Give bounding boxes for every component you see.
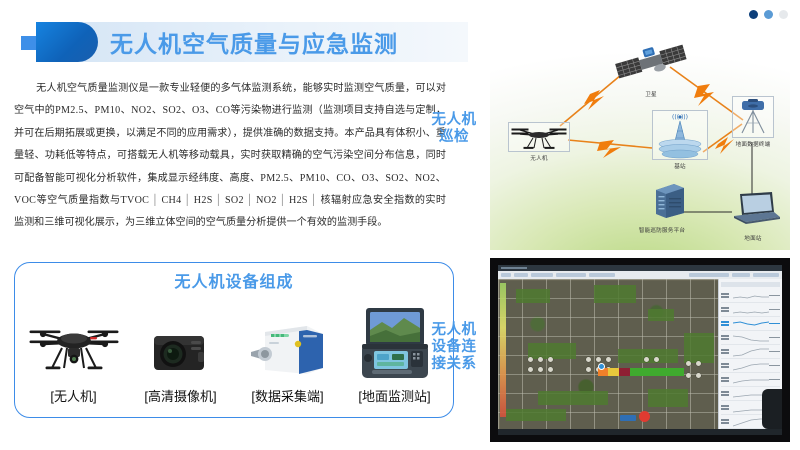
map-storage-tank xyxy=(644,357,649,362)
diagram-node-base-station: ((( ))) xyxy=(652,110,708,160)
measurement-value xyxy=(769,309,780,311)
measurement-row-active xyxy=(721,317,780,331)
monitoring-software-screenshot[interactable] xyxy=(490,258,790,442)
diagram-node-drone xyxy=(508,122,570,152)
title-pill-shape xyxy=(36,22,98,62)
satellite-map-canvas[interactable] xyxy=(498,279,718,429)
paragraph-part-3: 等空气质量指数与 xyxy=(36,195,120,206)
map-storage-tank xyxy=(686,373,691,378)
map-vegetation xyxy=(648,309,674,321)
equipment-label-data-collector: [数据采集端] xyxy=(236,386,340,405)
map-storage-tank xyxy=(686,361,691,366)
index-separator: │ xyxy=(149,195,161,206)
measurement-row xyxy=(721,359,780,373)
toolbar-button[interactable] xyxy=(689,273,729,278)
map-vegetation xyxy=(506,409,566,421)
diagram-node-satellite: 卫星 xyxy=(614,40,688,98)
satellite-icon xyxy=(614,40,688,84)
app-toolbar[interactable] xyxy=(498,271,782,279)
diagram-label-base-station: 基站 xyxy=(652,162,708,170)
map-storage-tank xyxy=(548,357,553,362)
measurement-row xyxy=(721,331,780,345)
map-storage-tank xyxy=(606,357,611,362)
app-body xyxy=(498,279,782,429)
measurement-row xyxy=(721,345,780,359)
index-h2s-2: H2S xyxy=(289,195,308,206)
map-storage-tank xyxy=(538,367,543,372)
gas-list-1: PM2.5、PM10、NO2、SO2、O3、CO xyxy=(55,105,230,116)
equipment-item-drone[interactable] xyxy=(22,304,126,380)
toolbar-button[interactable] xyxy=(531,273,553,278)
measurement-value xyxy=(769,351,780,353)
pollution-plume-overlay xyxy=(598,368,684,376)
index-separator: │ xyxy=(308,195,320,206)
diagram-label-satellite: 卫星 xyxy=(614,90,688,98)
map-vegetation xyxy=(516,289,550,303)
equipment-label-camera: [高清摄像机] xyxy=(129,386,233,405)
pager-dot-1[interactable] xyxy=(749,10,758,19)
index-ch4: CH4 xyxy=(162,195,182,206)
map-storage-tank xyxy=(548,367,553,372)
equipment-label-row: [无人机] [高清摄像机] [数据采集端] [地面监测站] xyxy=(20,386,448,405)
equipment-label-drone: [无人机] xyxy=(22,386,126,405)
measurement-value xyxy=(769,323,780,325)
map-vegetation xyxy=(538,391,608,405)
slide-root: 无人机空气质量与应急监测 无人机空气质量监测仪是一款专业轻便的多气体监测系统，能… xyxy=(0,0,800,450)
server-icon xyxy=(650,180,690,220)
callout-drone-inspection: 无人机 巡检 xyxy=(424,112,484,146)
foreground-camera-object xyxy=(762,389,782,429)
diagram-node-ground-station: 地面站 xyxy=(722,190,784,242)
toolbar-button[interactable] xyxy=(501,273,511,278)
callout-device-connection: 无人机 设备连 接关系 xyxy=(424,322,484,373)
map-vegetation xyxy=(684,333,714,363)
ground-station-icon xyxy=(356,304,434,380)
index-separator: │ xyxy=(213,195,225,206)
title-square-accent xyxy=(21,36,36,50)
page-title: 无人机空气质量与应急监测 xyxy=(110,24,398,60)
index-h2s: H2S xyxy=(194,195,213,206)
map-info-button[interactable] xyxy=(620,415,636,421)
map-storage-tank xyxy=(696,373,701,378)
network-topology-diagram: 卫星 无人机 xyxy=(490,22,790,250)
map-storage-tank xyxy=(696,361,701,366)
equipment-item-data-collector[interactable] xyxy=(236,304,340,380)
map-vegetation xyxy=(648,389,688,407)
index-tvoc: TVOC xyxy=(121,195,150,206)
measurement-row xyxy=(721,303,780,317)
diagram-node-smart-patrol-platform: 智能巡防服务平台 xyxy=(626,180,698,234)
toolbar-button[interactable] xyxy=(732,273,750,278)
laptop-icon xyxy=(728,190,782,228)
index-separator: │ xyxy=(277,195,289,206)
measurement-row xyxy=(721,289,780,303)
measurement-value xyxy=(769,365,780,367)
description-paragraph: 无人机空气质量监测仪是一款专业轻便的多气体监测系统，能够实时监测空气质量，可以对… xyxy=(14,78,446,235)
map-storage-tank xyxy=(586,367,591,372)
equipment-label-ground-station: [地面监测站] xyxy=(343,386,447,405)
diagram-label-ground-station: 地面站 xyxy=(722,234,784,242)
diagram-label-gdt-wrap: 地面数据终端 xyxy=(724,139,782,148)
toolbar-button[interactable] xyxy=(556,273,586,278)
toolbar-button[interactable] xyxy=(753,273,779,278)
camera-icon xyxy=(146,304,216,380)
plume-source-marker[interactable] xyxy=(598,363,605,370)
toolbar-button[interactable] xyxy=(514,273,528,278)
diagram-label-ground-data-terminal: 地面数据终端 xyxy=(724,140,782,148)
side-panel-header xyxy=(721,282,780,287)
measurement-value xyxy=(769,295,780,297)
app-window xyxy=(498,265,782,435)
map-color-legend xyxy=(500,283,506,417)
callout-bottom-line-2: 设备连 xyxy=(424,339,484,356)
index-separator: │ xyxy=(244,195,256,206)
diagram-label-base-station-wrap: 基站 xyxy=(652,161,708,170)
callout-top-line-1: 无人机 xyxy=(424,112,484,129)
pager-dot-3[interactable] xyxy=(779,10,788,19)
diagram-label-smart-patrol-platform: 智能巡防服务平台 xyxy=(626,226,698,234)
index-so2: SO2 xyxy=(225,195,244,206)
map-storage-tank xyxy=(596,357,601,362)
map-storage-tank xyxy=(528,357,533,362)
ground-data-terminal-icon xyxy=(733,97,773,137)
callout-bottom-line-1: 无人机 xyxy=(424,322,484,339)
callout-bottom-line-3: 接关系 xyxy=(424,356,484,373)
measurement-value xyxy=(769,379,780,381)
index-no2: NO2 xyxy=(256,195,277,206)
measurement-value xyxy=(769,337,780,339)
equipment-image-row xyxy=(20,296,448,380)
equipment-item-camera[interactable] xyxy=(129,304,233,380)
toolbar-button[interactable] xyxy=(589,273,615,278)
base-station-icon: ((( ))) xyxy=(653,111,707,159)
measurement-row xyxy=(721,373,780,387)
map-vegetation xyxy=(594,285,636,303)
pager-dot-2[interactable] xyxy=(764,10,773,19)
map-storage-tank xyxy=(538,357,543,362)
diagram-node-ground-data-terminal xyxy=(732,96,774,138)
callout-top-line-2: 巡检 xyxy=(424,129,484,146)
pager-dots[interactable] xyxy=(749,10,788,19)
data-collector-icon xyxy=(245,304,331,380)
map-storage-tank xyxy=(586,357,591,362)
app-title-text xyxy=(501,267,527,269)
map-alert-button[interactable] xyxy=(639,411,650,422)
diagram-label-drone: 无人机 xyxy=(508,154,570,162)
equipment-panel-title: 无人机设备组成 xyxy=(14,268,454,292)
diagram-label-drone-wrap: 无人机 xyxy=(508,153,570,162)
drone-small-icon xyxy=(509,123,569,151)
index-separator: │ xyxy=(181,195,193,206)
map-storage-tank xyxy=(528,367,533,372)
map-storage-tank xyxy=(654,357,659,362)
drone-icon xyxy=(26,304,122,380)
